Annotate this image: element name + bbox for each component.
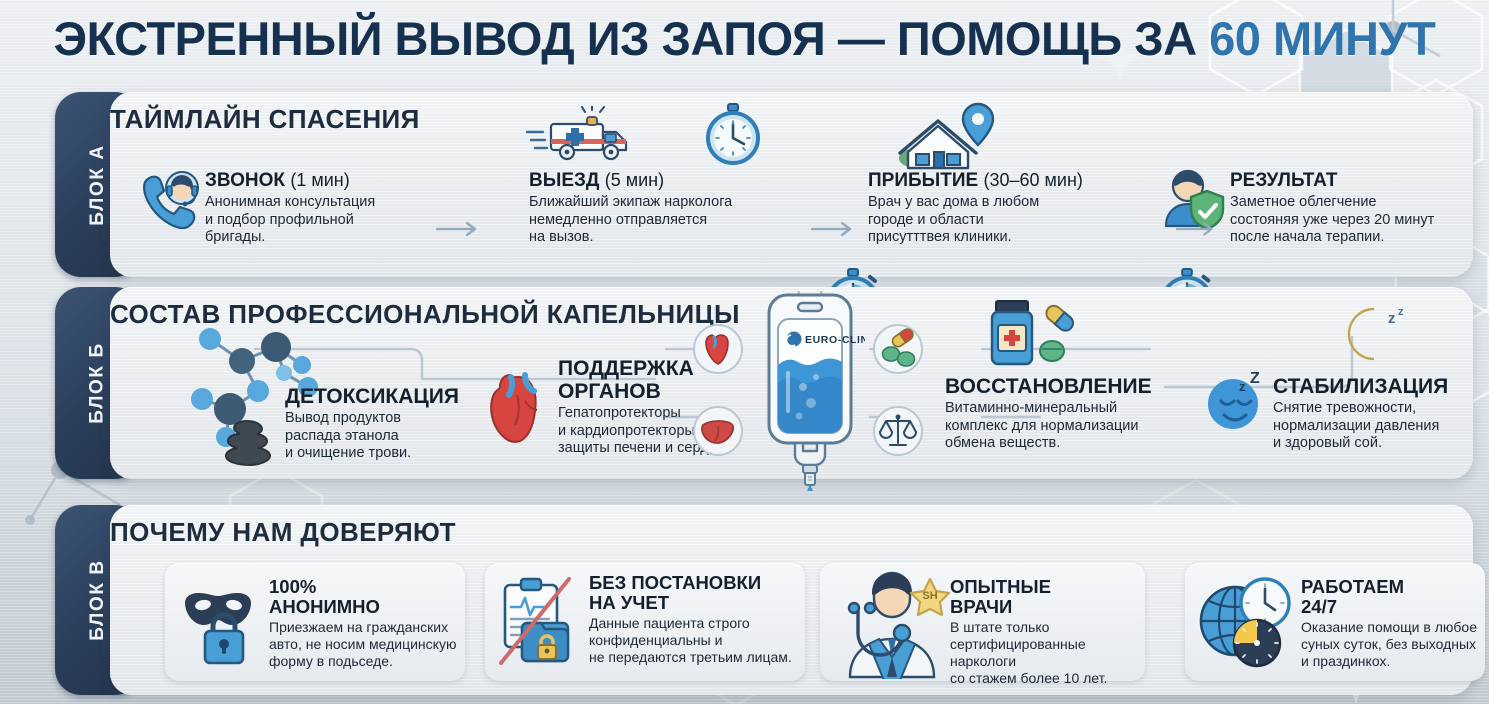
step-arrival-time: (30–60 мин) [983, 170, 1082, 190]
step-departure-title-text: ВЫЕЗД [529, 170, 599, 191]
trust-card-no-registration[interactable]: БЕЗ ПОСТАНОВКИ НА УЧЕТ Данные пациента с… [485, 563, 805, 681]
bitem-stabilization-body: Снятие тревожности, нормализации давлени… [1273, 400, 1483, 453]
step-result: РЕЗУЛЬТАТ Заметное облегчение состояняя … [1230, 170, 1480, 247]
step-result-title-text: РЕЗУЛЬТАТ [1230, 170, 1337, 191]
block-a-heading: ТАЙМЛАЙН СПАСЕНИЯ [110, 104, 420, 135]
heart-icon [487, 369, 555, 445]
pill-bottle-icon [980, 299, 1090, 371]
iv-bag-label-text: EURO-CLINIC [805, 334, 865, 346]
trust-card-doctors-title: ОПЫТНЫЕ ВРАЧИ [950, 577, 1142, 617]
trust-card-doctors[interactable]: SH ОПЫТНЫЕ ВРАЧИ В штате только сертифиц… [820, 563, 1145, 681]
arrow-step-3-to-4-icon [1175, 220, 1217, 238]
trust-card-no-registration-body: Данные пациента строго конфиденциальны и… [589, 615, 801, 666]
bitem-detox: ДЕТОКСИКАЦИЯ Вывод продуктов распада эта… [285, 385, 485, 463]
doctor-star-icon: SH [830, 571, 960, 679]
step-arrival-title-text: ПРИБЫТИЕ [868, 170, 978, 191]
mask-lock-icon [179, 577, 265, 667]
clock-icon-departure [700, 102, 766, 168]
globe-clock-icon [1195, 577, 1295, 671]
trust-card-24-7[interactable]: РАБОТАЕМ 24/7 Оказание помощи в любое су… [1185, 563, 1485, 681]
page-title-main: ЭКСТРЕННЫЙ ВЫВОД ИЗ ЗАПОЯ — ПОМОЩЬ ЗА [54, 12, 1210, 65]
iv-bag-icon: EURO-CLINIC [755, 291, 865, 491]
scales-icon [872, 405, 924, 457]
heart-small-icon [692, 323, 744, 375]
svg-text:Z: Z [1250, 371, 1260, 387]
svg-text:SH: SH [922, 590, 937, 602]
block-c-heading: ПОЧЕМУ НАМ ДОВЕРЯЮТ [110, 517, 456, 548]
bitem-recovery-title: ВОССТАНОВЛЕНИЕ [945, 375, 1195, 398]
trust-card-anonymous[interactable]: 100% АНОНИМНО Приезжаем на гражданских а… [165, 563, 465, 681]
bitem-stabilization-title: СТАБИЛИЗАЦИЯ [1273, 375, 1483, 398]
bitem-detox-title: ДЕТОКСИКАЦИЯ [285, 385, 485, 408]
trust-card-24-7-text: РАБОТАЕМ 24/7 Оказание помощи в любое су… [1301, 577, 1481, 670]
bitem-recovery-body: Витаминно-минеральный комплекс для норма… [945, 400, 1195, 453]
arrow-step-2-to-3-icon [810, 220, 856, 238]
trust-card-no-registration-title: БЕЗ ПОСТАНОВКИ НА УЧЕТ [589, 573, 801, 613]
block-a: БЛОК А ТАЙМЛАЙН СПАСЕНИЯ ЗВОНОК (1 мин) … [55, 92, 1473, 277]
bitem-detox-body: Вывод продуктов распада этанола и очищен… [285, 410, 485, 463]
no-registration-icon [497, 575, 585, 667]
pills-icon [872, 323, 924, 375]
step-arrival: ПРИБЫТИЕ (30–60 мин) Врач у вас дома в л… [868, 170, 1108, 247]
liver-icon [692, 405, 744, 457]
trust-card-no-registration-text: БЕЗ ПОСТАНОВКИ НА УЧЕТ Данные пациента с… [589, 573, 801, 666]
trust-card-anonymous-body: Приезжаем на гражданских авто, не носим … [269, 619, 459, 670]
step-call-title-text: ЗВОНОК [205, 170, 285, 191]
trust-card-doctors-body: В штате только сертифицированные нарколо… [950, 619, 1142, 687]
ambulance-icon [525, 106, 645, 168]
page-title-highlight: 60 МИНУТ [1209, 12, 1435, 65]
arrow-step-1-to-2-icon [435, 220, 481, 238]
step-call-body: Анонимная консультация и подбор профильн… [205, 194, 425, 247]
step-departure-title: ВЫЕЗД (5 мин) [529, 170, 779, 192]
block-a-tab-label: БЛОК А [87, 144, 109, 226]
step-departure: ВЫЕЗД (5 мин) Ближайший экипаж нарколога… [529, 170, 779, 247]
moon-icon: z z [1338, 303, 1410, 369]
house-location-pin-icon [890, 100, 1010, 170]
trust-card-24-7-body: Оказание помощи в любое суных суток, без… [1301, 619, 1481, 670]
svg-text:z: z [1239, 379, 1246, 394]
block-c: БЛОК В ПОЧЕМУ НАМ ДОВЕРЯЮТ 100% АНОНИМНО… [55, 505, 1473, 695]
page-title: ЭКСТРЕННЫЙ ВЫВОД ИЗ ЗАПОЯ — ПОМОЩЬ ЗА 60… [0, 8, 1489, 70]
bitem-stabilization: СТАБИЛИЗАЦИЯ Снятие тревожности, нормали… [1273, 375, 1483, 453]
step-result-body: Заметное облегчение состояняя уже через … [1230, 194, 1480, 247]
trust-card-anonymous-text: 100% АНОНИМНО Приезжаем на гражданских а… [269, 577, 459, 670]
trust-card-anonymous-title: 100% АНОНИМНО [269, 577, 459, 617]
trust-card-doctors-text: ОПЫТНЫЕ ВРАЧИ В штате только сертифициро… [950, 577, 1142, 687]
trust-card-24-7-title: РАБОТАЕМ 24/7 [1301, 577, 1481, 617]
step-arrival-body: Врач у вас дома в любом городе и области… [868, 194, 1108, 247]
bitem-recovery: ВОССТАНОВЛЕНИЕ Витаминно-минеральный ком… [945, 375, 1195, 453]
step-call: ЗВОНОК (1 мин) Анонимная консультация и … [205, 170, 425, 247]
step-arrival-title: ПРИБЫТИЕ (30–60 мин) [868, 170, 1108, 192]
svg-text:z: z [1398, 306, 1404, 318]
step-result-title: РЕЗУЛЬТАТ [1230, 170, 1480, 192]
step-call-title: ЗВОНОК (1 мин) [205, 170, 425, 192]
sleeping-face-icon: z Z [1203, 371, 1275, 433]
svg-text:z: z [1388, 310, 1396, 327]
block-b: БЛОК Б СОСТАВ ПРОФЕССИОНАЛЬНОЙ КАПЕЛЬНИЦ… [55, 287, 1473, 479]
block-c-tab-label: БЛОК В [87, 559, 109, 641]
block-b-tab-label: БЛОК Б [87, 342, 109, 423]
step-departure-time: (5 мин) [605, 170, 664, 190]
phone-headset-icon [137, 164, 207, 234]
step-departure-body: Ближайший экипаж нарколога немедленно от… [529, 194, 779, 247]
step-call-time: (1 мин) [290, 170, 349, 190]
